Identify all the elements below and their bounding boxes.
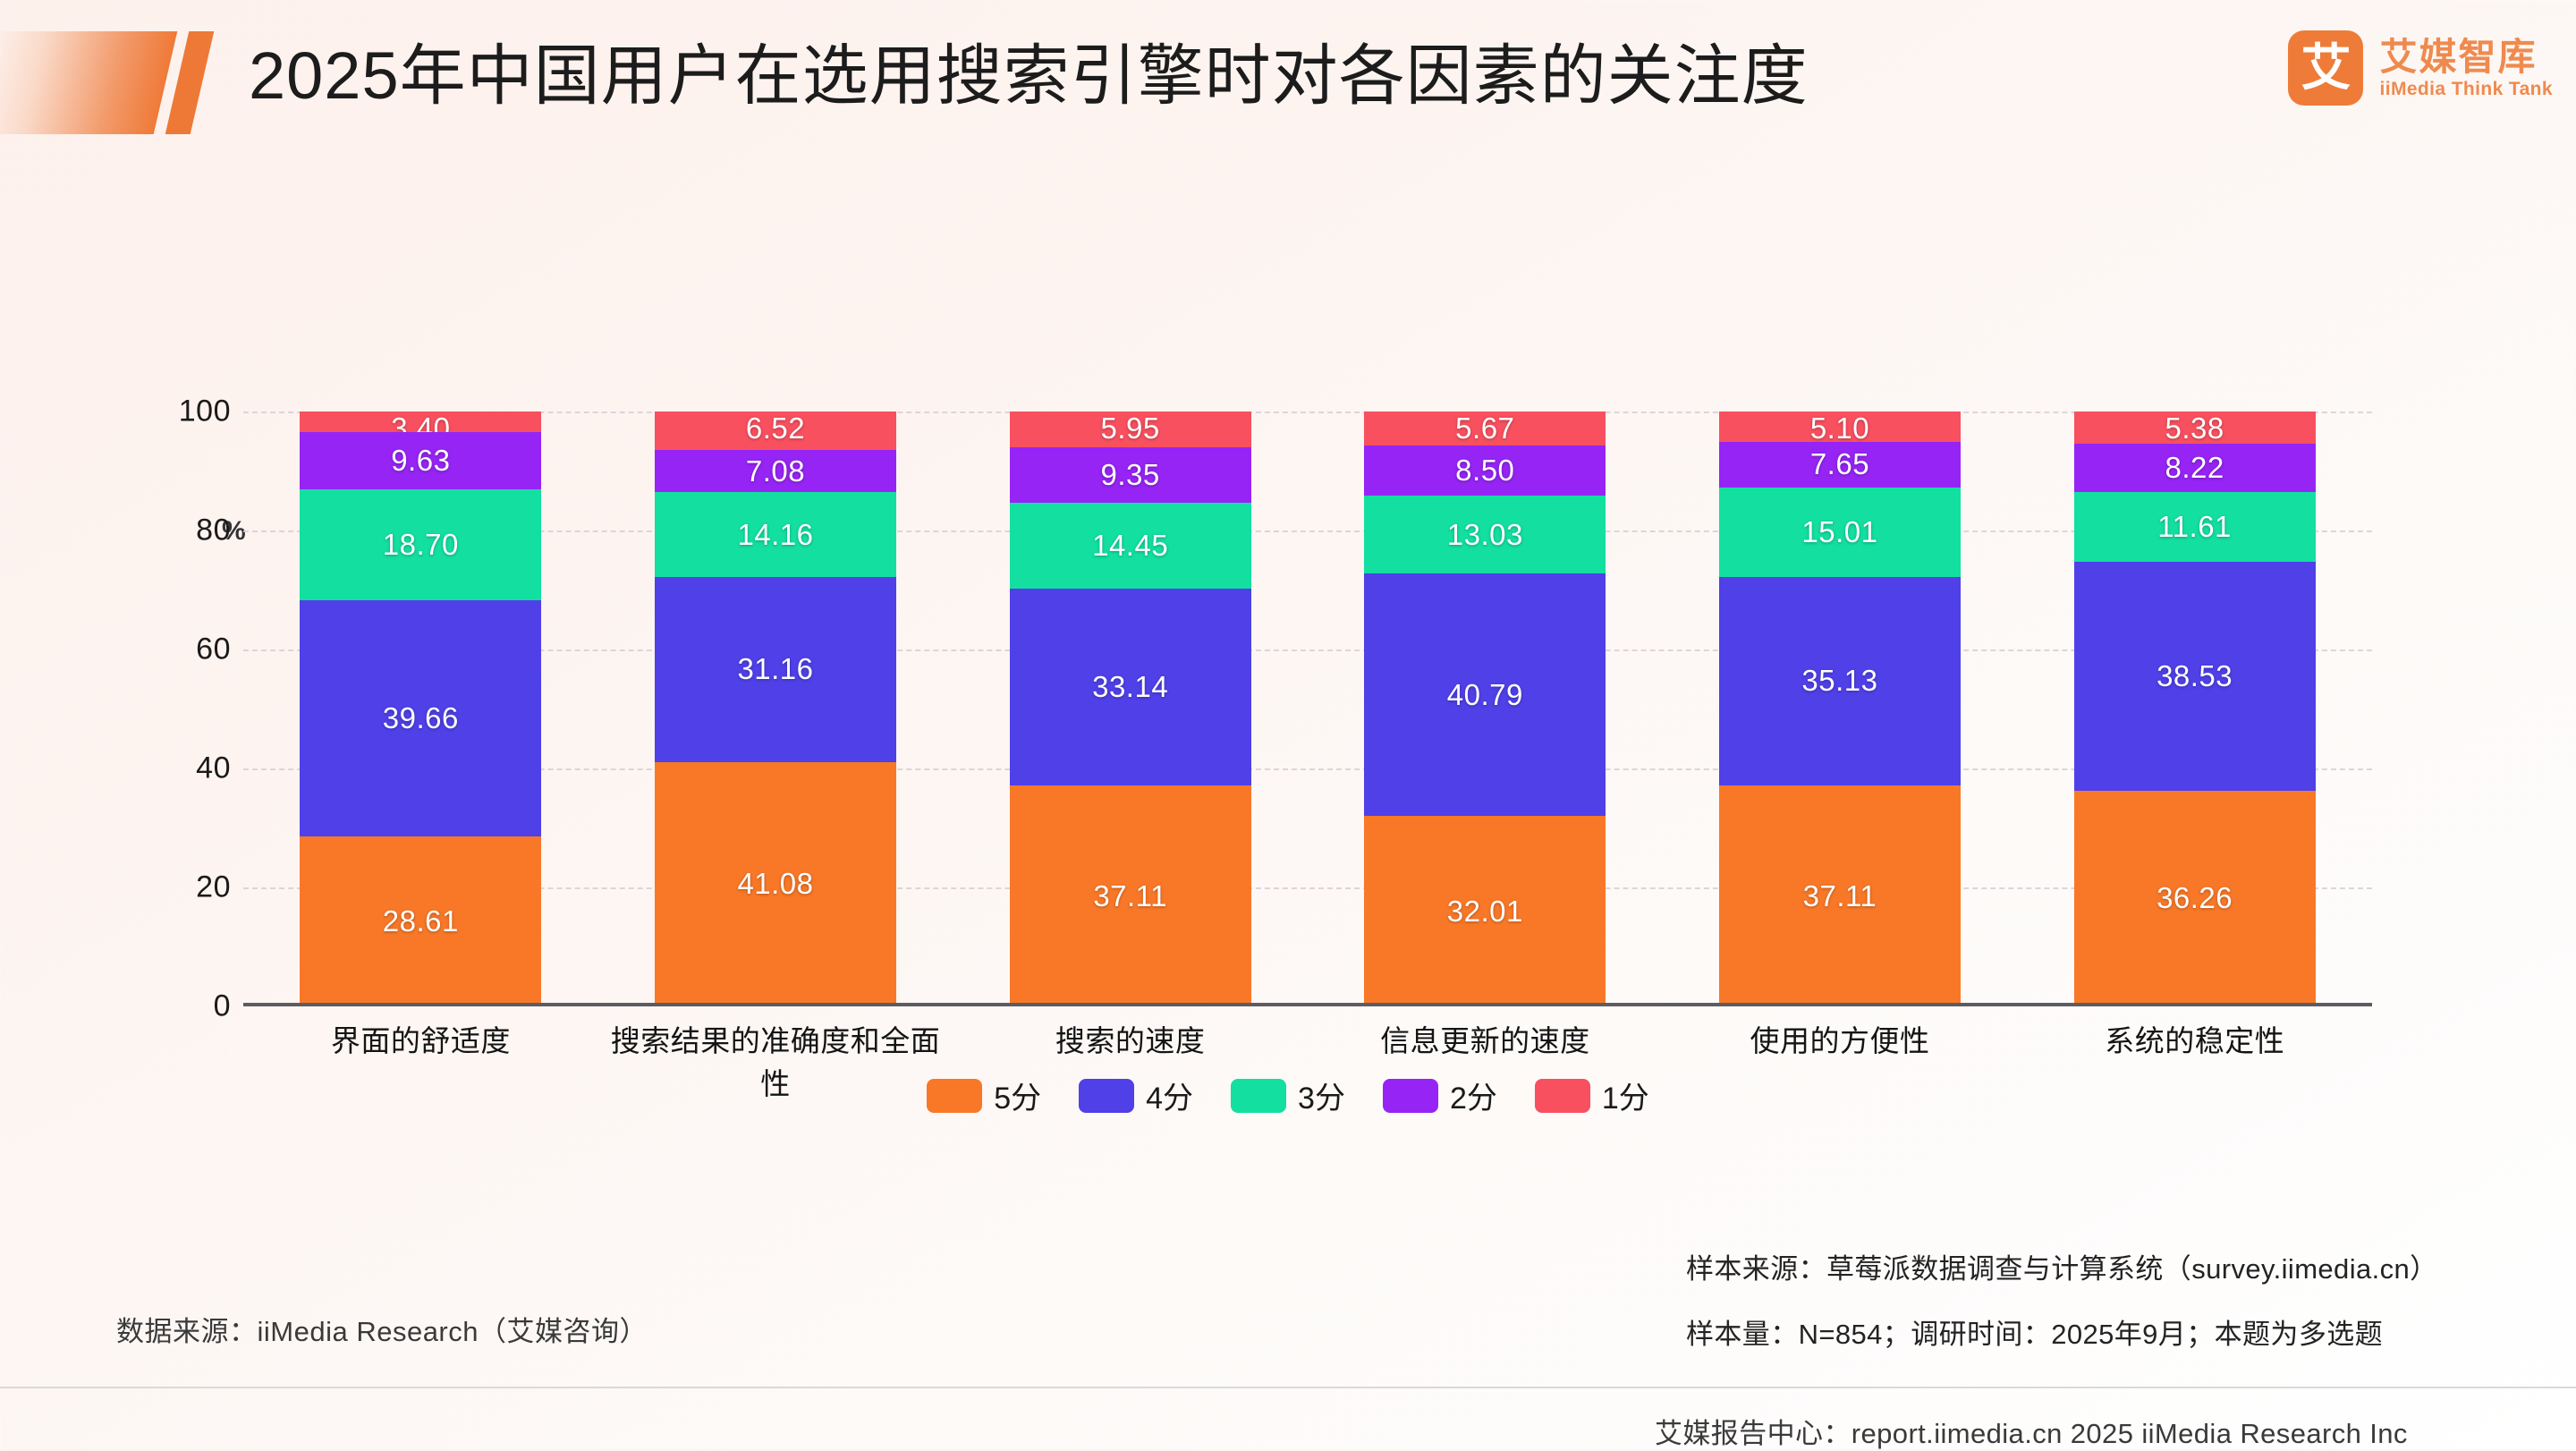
legend-label: 3分 [1298,1073,1345,1117]
report-center-note: 艾媒报告中心：report.iimedia.cn 2025 iiMedia Re… [1655,1411,2408,1451]
y-axis-tick-80: 80 [196,513,231,548]
legend-item[interactable]: 3分 [1231,1073,1345,1117]
bar-segment-value[interactable]: 11.61 [2074,492,2316,561]
chart-legend: 5分4分3分2分1分 [0,1073,2576,1117]
stacked-bar-group: 3.409.6318.7039.6628.616.527.0814.1631.1… [243,412,2372,1006]
bar-segment-value[interactable]: 15.01 [1719,488,1961,577]
bar-segment-value[interactable]: 7.65 [1719,442,1961,488]
bar-segment-value[interactable]: 35.13 [1719,577,1961,786]
chart-area: % 020406080100 3.409.6318.7039.6628.616.… [0,165,2576,1203]
bar-segment-value[interactable]: 8.22 [2074,444,2316,493]
bar-segment-value[interactable]: 6.52 [655,412,896,450]
brand-name-en: iiMedia Think Tank [2379,78,2553,100]
y-axis-tick-60: 60 [196,632,231,667]
bar-segment-value[interactable]: 5.95 [1010,412,1251,447]
bar-column[interactable]: 5.388.2211.6138.5336.26 [2074,412,2316,1006]
legend-swatch-icon [1535,1079,1590,1113]
y-axis-tick-40: 40 [196,751,231,786]
bar-segment-value[interactable]: 5.10 [1719,412,1961,442]
bar-segment-value[interactable]: 13.03 [1364,496,1606,573]
legend-item[interactable]: 1分 [1535,1073,1649,1117]
bar-segment-value[interactable]: 31.16 [655,577,896,762]
y-axis-tick-20: 20 [196,870,231,905]
bar-column[interactable]: 5.959.3514.4533.1437.11 [1010,412,1251,1006]
legend-swatch-icon [1383,1079,1438,1113]
bar-column[interactable]: 3.409.6318.7039.6628.61 [300,412,541,1006]
y-axis-tick-0: 0 [214,989,231,1024]
plot-region: 3.409.6318.7039.6628.616.527.0814.1631.1… [243,412,2372,1006]
bar-segment-value[interactable]: 37.11 [1719,785,1961,1006]
bar-segment-value[interactable]: 28.61 [300,836,541,1006]
legend-swatch-icon [1079,1079,1134,1113]
y-axis-tick-100: 100 [179,395,231,429]
x-axis-line [243,1003,2372,1006]
page-footer: 数据来源：iiMedia Research（艾媒咨询） 样本来源：草莓派数据调查… [0,1203,2576,1449]
sample-source-note: 样本来源：草莓派数据调查与计算系统（survey.iimedia.cn） [1686,1246,2438,1286]
legend-item[interactable]: 4分 [1079,1073,1193,1117]
bar-segment-value[interactable]: 40.79 [1364,573,1606,816]
sample-size-note: 样本量：N=854；调研时间：2025年9月；本题为多选题 [1686,1311,2438,1352]
bar-segment-value[interactable]: 14.45 [1010,503,1251,589]
bar-segment-value[interactable]: 5.67 [1364,412,1606,445]
legend-label: 2分 [1450,1073,1497,1117]
legend-item[interactable]: 2分 [1383,1073,1497,1117]
header-accent-graphic [0,31,233,134]
page-header: 2025年中国用户在选用搜索引擎时对各因素的关注度 艾 艾媒智库 iiMedia… [0,0,2576,165]
bar-column[interactable]: 5.107.6515.0135.1337.11 [1719,412,1961,1006]
bar-segment-value[interactable]: 14.16 [655,492,896,576]
brand-name-cn: 艾媒智库 [2379,36,2553,78]
bar-segment-value[interactable]: 3.40 [300,412,541,432]
bar-segment-value[interactable]: 37.11 [1010,785,1251,1006]
bar-segment-value[interactable]: 33.14 [1010,589,1251,785]
legend-swatch-icon [927,1079,982,1113]
brand-mark-icon: 艾 [2288,30,2363,106]
bar-segment-value[interactable]: 32.01 [1364,816,1606,1006]
bar-segment-value[interactable]: 9.63 [300,432,541,489]
brand-text: 艾媒智库 iiMedia Think Tank [2379,36,2553,100]
bar-segment-value[interactable]: 36.26 [2074,791,2316,1006]
sample-info-block: 样本来源：草莓派数据调查与计算系统（survey.iimedia.cn） 样本量… [1686,1246,2438,1377]
bar-column[interactable]: 5.678.5013.0340.7932.01 [1364,412,1606,1006]
bar-segment-value[interactable]: 38.53 [2074,562,2316,791]
data-source-note: 数据来源：iiMedia Research（艾媒咨询） [116,1309,648,1349]
footer-divider [0,1387,2576,1388]
bar-segment-value[interactable]: 18.70 [300,489,541,600]
bar-segment-value[interactable]: 8.50 [1364,445,1606,496]
bar-segment-value[interactable]: 7.08 [655,450,896,492]
y-axis-tick-labels: 020406080100 [125,412,231,1006]
legend-label: 4分 [1146,1073,1193,1117]
legend-item[interactable]: 5分 [927,1073,1041,1117]
bar-segment-value[interactable]: 5.38 [2074,412,2316,444]
legend-label: 1分 [1602,1073,1649,1117]
bar-segment-value[interactable]: 41.08 [655,762,896,1006]
bar-segment-value[interactable]: 9.35 [1010,447,1251,503]
bar-segment-value[interactable]: 39.66 [300,600,541,836]
page-title: 2025年中国用户在选用搜索引擎时对各因素的关注度 [249,23,1809,129]
legend-label: 5分 [994,1073,1041,1117]
bar-column[interactable]: 6.527.0814.1631.1641.08 [655,412,896,1006]
brand-logo: 艾 艾媒智库 iiMedia Think Tank [2288,30,2553,106]
legend-swatch-icon [1231,1079,1286,1113]
accent-bar-shape [0,31,177,134]
